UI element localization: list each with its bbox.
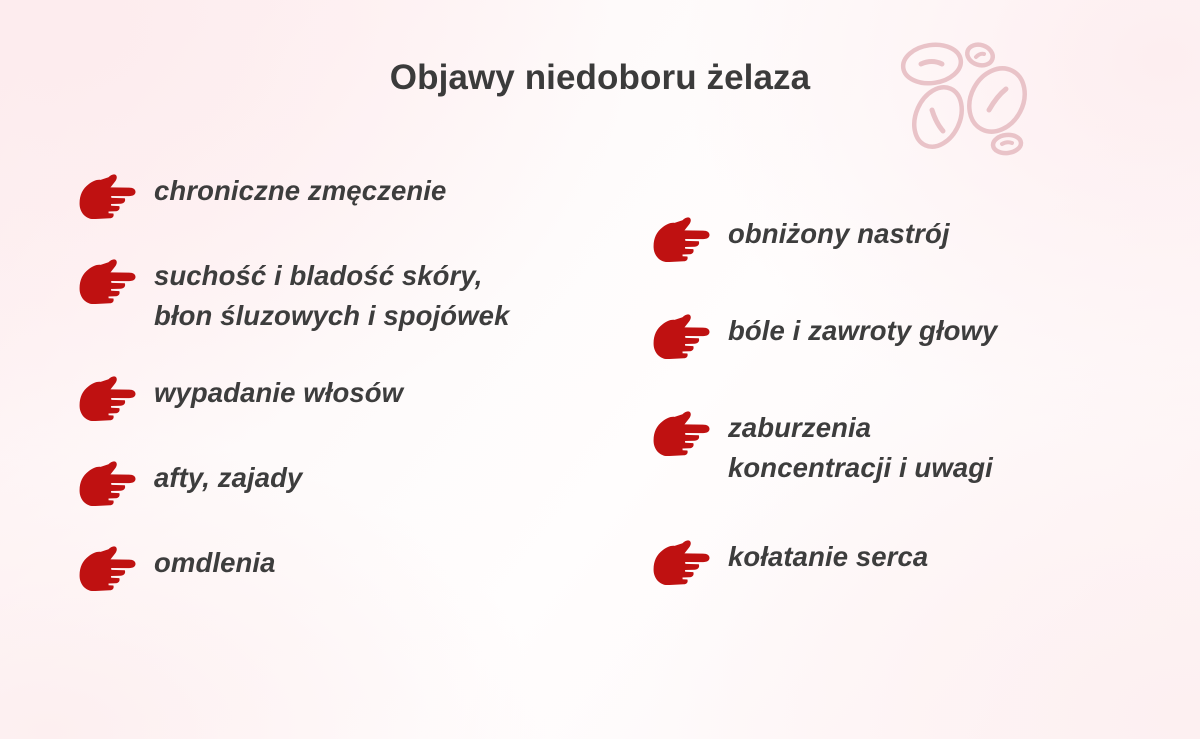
list-item-label: chroniczne zmęczenie [154,170,446,211]
list-item-label: obniżony nastrój [728,213,950,254]
list-item: wypadanie włosów [78,372,638,421]
list-item: kołatanie serca [652,536,1122,585]
list-item: omdlenia [78,542,638,591]
list-item-label: omdlenia [154,542,276,583]
list-item: afty, zajady [78,457,638,506]
backhand-index-pointing-right-icon [652,410,714,456]
list-item-label: afty, zajady [154,457,302,498]
list-item-label: wypadanie włosów [154,372,403,413]
backhand-index-pointing-right-icon [652,216,714,262]
list-item: chroniczne zmęczenie [78,170,638,219]
backhand-index-pointing-right-icon [652,313,714,359]
list-item: suchość i bladość skóry, błon śluzowych … [78,255,638,336]
backhand-index-pointing-right-icon [78,375,140,421]
backhand-index-pointing-right-icon [78,258,140,304]
list-item-label: bóle i zawroty głowy [728,310,997,351]
list-item: bóle i zawroty głowy [652,310,1122,359]
infographic-poster: Objawy niedoboru żelaza chroniczne zmęcz… [0,0,1200,739]
backhand-index-pointing-right-icon [78,460,140,506]
list-item-label: suchość i bladość skóry, błon śluzowych … [154,255,509,336]
backhand-index-pointing-right-icon [78,545,140,591]
list-item-label: kołatanie serca [728,536,928,577]
list-item: zaburzenia koncentracji i uwagi [652,407,1122,488]
backhand-index-pointing-right-icon [652,539,714,585]
backhand-index-pointing-right-icon [78,173,140,219]
page-title: Objawy niedoboru żelaza [0,58,1200,98]
symptoms-column-right: obniżony nastrój bóle i zawroty głowy za… [652,213,1122,585]
list-item-label: zaburzenia koncentracji i uwagi [728,407,993,488]
symptoms-column-left: chroniczne zmęczenie suchość i bladość s… [78,170,638,591]
list-item: obniżony nastrój [652,213,1122,262]
